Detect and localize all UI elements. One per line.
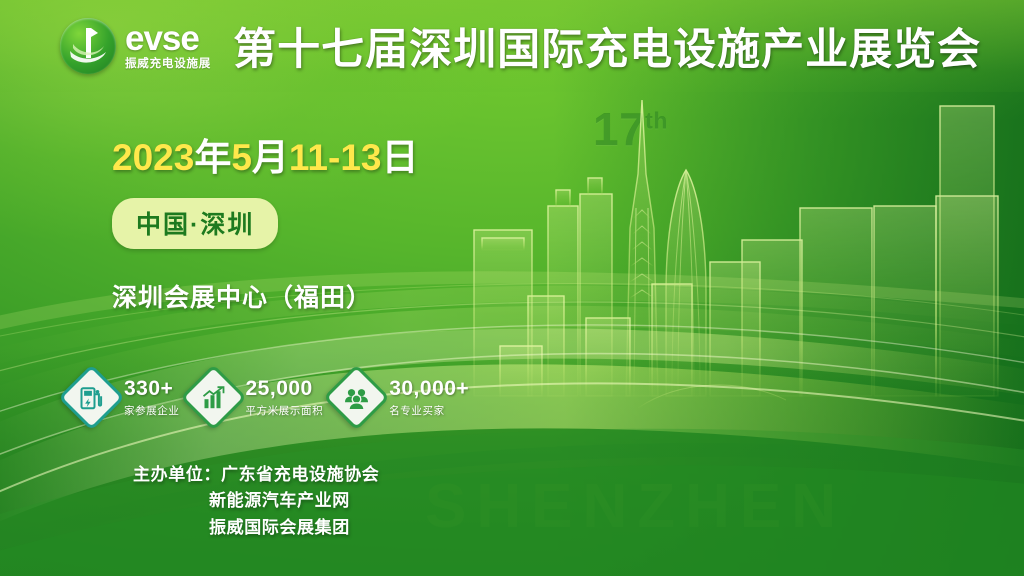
stats-row: 330+ 家参展企业 25,000 平方米展示面积 [68,374,469,421]
brand-logo-text: evse 振威充电设施展 [125,22,211,70]
stat-value: 30,000+ [389,378,469,399]
stat-item: 30,000+ 名专业买家 [333,374,469,421]
stat-text: 25,000 平方米展示面积 [246,378,324,418]
evse-circle-logo-icon [60,18,116,74]
venue-name: 深圳会展中心（福田） [112,278,418,314]
stat-item: 25,000 平方米展示面积 [190,374,324,421]
brand-wordmark: evse [125,22,211,56]
location-badge: 中国·深圳 [112,198,278,249]
charging-station-icon [79,385,105,411]
brand-subtitle: 振威充电设施展 [125,59,211,71]
stat-label: 平方米展示面积 [246,403,324,418]
organizers-block: 主办单位：广东省充电设施协会 新能源汽车产业网 振威国际会展集团 [133,462,379,541]
event-poster: 17th [0,0,1024,576]
date-year: 2023 [112,137,194,178]
stat-value: 25,000 [246,378,324,399]
organizer-line-3: 振威国际会展集团 [133,515,379,541]
date-month: 5 [231,137,252,178]
event-date: 2023年5月11-13日 [112,138,418,179]
organizer-line-2: 新能源汽车产业网 [133,488,379,514]
page-title: 第十七届深圳国际充电设施产业展览会 [233,15,981,77]
date-day-unit: 日 [381,137,418,178]
event-info: 2023年5月11-13日 中国·深圳 深圳会展中心（福田） [112,138,418,314]
stat-text: 330+ 家参展企业 [124,378,180,418]
stat-value: 330+ [124,378,180,399]
date-year-unit: 年 [194,137,231,178]
stat-icon-frame [323,364,389,430]
stat-label: 家参展企业 [124,403,180,418]
stat-item: 330+ 家参展企业 [68,374,180,421]
stat-icon-frame [58,364,124,430]
stat-icon-frame [180,364,246,430]
stat-text: 30,000+ 名专业买家 [389,378,469,418]
poster-header: evse 振威充电设施展 第十七届深圳国际充电设施产业展览会 [0,0,1024,92]
bar-chart-icon [200,385,226,411]
date-days: 11-13 [289,137,382,178]
date-month-unit: 月 [252,137,289,178]
people-group-icon [344,385,370,411]
brand-logo[interactable]: evse 振威充电设施展 [60,18,211,74]
stat-label: 名专业买家 [389,403,469,418]
organizer-line-1: 主办单位：广东省充电设施协会 [133,462,379,488]
